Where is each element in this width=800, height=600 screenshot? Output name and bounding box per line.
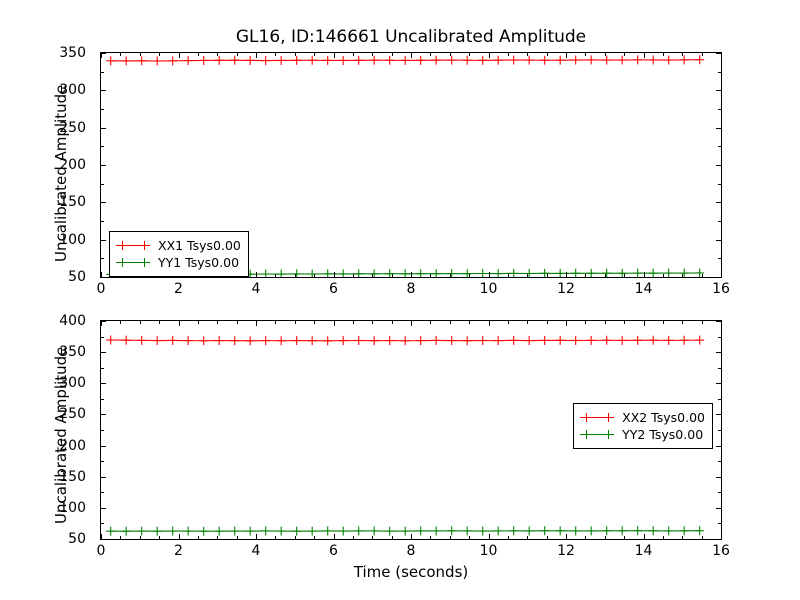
x-minor-tick-mark [702, 536, 703, 539]
legend-swatch-yy-icon [116, 257, 150, 268]
x-tick-mark [179, 53, 180, 58]
x-tick-label: 12 [557, 281, 575, 297]
x-tick-label: 0 [97, 543, 106, 559]
x-minor-tick-mark [682, 53, 683, 56]
y-tick-label: 300 [0, 383, 92, 399]
x-minor-tick-mark [314, 274, 315, 277]
y-tick-label-text: 300 [0, 82, 92, 98]
x-tick-mark [644, 534, 645, 539]
y-tick-mark [716, 539, 721, 540]
series-xx [106, 335, 704, 345]
x-tick-label: 0 [97, 281, 106, 297]
x-minor-tick-mark [547, 53, 548, 56]
legend-swatch-xx-icon [116, 240, 150, 251]
x-minor-tick-mark [508, 274, 509, 277]
x-minor-tick-mark [508, 53, 509, 56]
y-tick-label: 250 [0, 414, 92, 430]
y-minor-tick-mark [718, 146, 721, 147]
y-tick-label-text: 150 [0, 469, 92, 485]
x-minor-tick-mark [392, 321, 393, 324]
y-minor-tick-mark [718, 399, 721, 400]
y-minor-tick-mark [101, 258, 104, 259]
y-tick-label-text: 50 [0, 269, 92, 285]
x-tick-mark [334, 321, 335, 326]
x-tick-label: 6 [329, 543, 338, 559]
y-tick-label-text: 100 [0, 232, 92, 248]
x-tick-label: 16 [712, 543, 730, 559]
x-tick-mark [411, 534, 412, 539]
plot-area-top[interactable]: XX1 Tsys0.00YY1 Tsys0.00 [100, 52, 722, 278]
x-minor-tick-mark [392, 536, 393, 539]
y-minor-tick-mark [718, 337, 721, 338]
y-minor-tick-mark [718, 258, 721, 259]
x-tick-mark [101, 272, 102, 277]
y-minor-tick-mark [101, 492, 104, 493]
x-tick-mark [644, 272, 645, 277]
x-minor-tick-mark [372, 274, 373, 277]
y-tick-label: 200 [0, 446, 92, 462]
x-minor-tick-mark [353, 321, 354, 324]
x-tick-mark [566, 321, 567, 326]
y-tick-label: 400 [0, 321, 92, 337]
x-tick-mark [489, 53, 490, 58]
x-tick-label: 14 [635, 281, 653, 297]
y-tick-label: 100 [0, 240, 92, 256]
x-minor-tick-mark [159, 53, 160, 56]
x-minor-tick-mark [605, 274, 606, 277]
y-minor-tick-mark [718, 461, 721, 462]
x-tick-mark [256, 321, 257, 326]
y-tick-mark [101, 240, 106, 241]
y-tick-mark [716, 414, 721, 415]
y-minor-tick-mark [718, 184, 721, 185]
x-minor-tick-mark [547, 274, 548, 277]
x-minor-tick-mark [217, 321, 218, 324]
y-tick-mark [101, 277, 106, 278]
x-minor-tick-mark [527, 274, 528, 277]
x-tick-mark [101, 53, 102, 58]
y-tick-label: 100 [0, 508, 92, 524]
y-tick-label: 150 [0, 202, 92, 218]
x-minor-tick-mark [702, 274, 703, 277]
y-tick-mark [101, 508, 106, 509]
y-minor-tick-mark [101, 221, 104, 222]
y-tick-label-text: 50 [0, 531, 92, 547]
x-minor-tick-mark [275, 321, 276, 324]
x-minor-tick-mark [392, 274, 393, 277]
x-minor-tick-mark [120, 536, 121, 539]
x-tick-label: 10 [480, 543, 498, 559]
x-minor-tick-mark [508, 321, 509, 324]
x-minor-tick-mark [469, 536, 470, 539]
x-minor-tick-mark [275, 274, 276, 277]
x-axis-label: Time (seconds) [100, 563, 722, 581]
x-tick-label: 6 [329, 281, 338, 297]
legend-item[interactable]: YY1 Tsys0.00 [116, 254, 241, 271]
y-minor-tick-mark [718, 523, 721, 524]
x-tick-mark [334, 534, 335, 539]
legend-item[interactable]: XX1 Tsys0.00 [116, 237, 241, 254]
x-tick-mark [644, 321, 645, 326]
legend-label: XX2 Tsys0.00 [622, 409, 705, 426]
x-minor-tick-mark [314, 321, 315, 324]
x-minor-tick-mark [450, 321, 451, 324]
x-minor-tick-mark [430, 536, 431, 539]
x-minor-tick-mark [159, 536, 160, 539]
x-minor-tick-mark [624, 53, 625, 56]
x-minor-tick-mark [527, 53, 528, 56]
x-tick-label: 12 [557, 543, 575, 559]
x-tick-mark [566, 534, 567, 539]
series-yy [106, 526, 704, 535]
x-minor-tick-mark [295, 274, 296, 277]
x-minor-tick-mark [547, 321, 548, 324]
y-tick-mark [716, 128, 721, 129]
x-tick-label: 4 [252, 281, 261, 297]
x-tick-mark [256, 53, 257, 58]
x-tick-mark [411, 321, 412, 326]
y-tick-label-text: 350 [0, 45, 92, 61]
y-tick-mark [101, 539, 106, 540]
legend-label: XX1 Tsys0.00 [158, 237, 241, 254]
y-tick-mark [716, 508, 721, 509]
x-tick-mark [256, 272, 257, 277]
x-tick-label: 16 [712, 281, 730, 297]
x-tick-mark [721, 53, 722, 58]
x-minor-tick-mark [508, 536, 509, 539]
y-tick-mark [101, 383, 106, 384]
y-tick-mark [716, 90, 721, 91]
x-minor-tick-mark [392, 53, 393, 56]
x-minor-tick-mark [295, 536, 296, 539]
y-minor-tick-mark [101, 72, 104, 73]
x-minor-tick-mark [682, 321, 683, 324]
y-minor-tick-mark [101, 523, 104, 524]
y-tick-mark [716, 446, 721, 447]
x-tick-label: 2 [174, 543, 183, 559]
x-tick-mark [256, 534, 257, 539]
y-tick-mark [716, 240, 721, 241]
y-minor-tick-mark [718, 430, 721, 431]
x-minor-tick-mark [140, 536, 141, 539]
x-minor-tick-mark [469, 321, 470, 324]
x-minor-tick-mark [217, 53, 218, 56]
y-tick-mark [101, 477, 106, 478]
x-tick-label: 2 [174, 281, 183, 297]
y-minor-tick-mark [101, 399, 104, 400]
x-minor-tick-mark [450, 274, 451, 277]
x-tick-mark [721, 534, 722, 539]
y-minor-tick-mark [101, 430, 104, 431]
y-tick-label: 350 [0, 352, 92, 368]
x-tick-label: 4 [252, 543, 261, 559]
x-tick-mark [101, 321, 102, 326]
y-minor-tick-mark [718, 72, 721, 73]
x-tick-mark [566, 272, 567, 277]
x-minor-tick-mark [682, 536, 683, 539]
x-tick-mark [489, 534, 490, 539]
y-tick-label: 350 [0, 53, 92, 69]
x-tick-mark [644, 53, 645, 58]
x-minor-tick-mark [217, 536, 218, 539]
y-tick-label-text: 200 [0, 157, 92, 173]
y-minor-tick-mark [101, 461, 104, 462]
x-minor-tick-mark [295, 321, 296, 324]
figure-canvas: GL16, ID:146661 Uncalibrated Amplitude U… [0, 0, 800, 600]
y-tick-label: 300 [0, 90, 92, 106]
x-minor-tick-mark [198, 536, 199, 539]
x-minor-tick-mark [624, 274, 625, 277]
x-tick-mark [411, 53, 412, 58]
y-minor-tick-mark [101, 146, 104, 147]
x-minor-tick-mark [430, 321, 431, 324]
x-tick-mark [721, 272, 722, 277]
y-tick-label: 150 [0, 477, 92, 493]
y-tick-label-text: 150 [0, 194, 92, 210]
y-tick-mark [716, 383, 721, 384]
legend-swatch-yy-icon [580, 429, 614, 440]
y-tick-mark [716, 477, 721, 478]
y-tick-label-text: 200 [0, 438, 92, 454]
y-tick-mark [716, 202, 721, 203]
y-tick-label: 250 [0, 128, 92, 144]
x-minor-tick-mark [624, 321, 625, 324]
x-tick-label: 10 [480, 281, 498, 297]
x-tick-label: 14 [635, 543, 653, 559]
x-minor-tick-mark [469, 53, 470, 56]
x-minor-tick-mark [585, 274, 586, 277]
x-minor-tick-mark [585, 321, 586, 324]
x-minor-tick-mark [663, 536, 664, 539]
y-tick-mark [716, 277, 721, 278]
x-tick-mark [179, 534, 180, 539]
x-tick-mark [721, 321, 722, 326]
x-tick-mark [489, 272, 490, 277]
x-tick-mark [489, 321, 490, 326]
x-tick-label: 8 [407, 281, 416, 297]
y-tick-mark [716, 352, 721, 353]
x-tick-mark [334, 272, 335, 277]
x-minor-tick-mark [314, 53, 315, 56]
y-tick-mark [101, 414, 106, 415]
y-tick-label-text: 400 [0, 313, 92, 329]
y-tick-label: 50 [0, 277, 92, 293]
x-minor-tick-mark [353, 53, 354, 56]
x-minor-tick-mark [605, 321, 606, 324]
y-minor-tick-mark [718, 492, 721, 493]
y-tick-mark [101, 128, 106, 129]
legend-label: YY1 Tsys0.00 [158, 254, 239, 271]
y-minor-tick-mark [718, 221, 721, 222]
x-minor-tick-mark [295, 53, 296, 56]
x-minor-tick-mark [663, 321, 664, 324]
y-minor-tick-mark [718, 109, 721, 110]
y-minor-tick-mark [101, 337, 104, 338]
x-minor-tick-mark [547, 536, 548, 539]
x-minor-tick-mark [372, 53, 373, 56]
x-minor-tick-mark [450, 53, 451, 56]
x-tick-mark [179, 321, 180, 326]
y-tick-mark [101, 90, 106, 91]
legend-swatch-xx-icon [580, 412, 614, 423]
y-minor-tick-mark [718, 368, 721, 369]
x-minor-tick-mark [585, 53, 586, 56]
x-minor-tick-mark [140, 321, 141, 324]
x-minor-tick-mark [450, 536, 451, 539]
x-minor-tick-mark [663, 274, 664, 277]
x-minor-tick-mark [198, 321, 199, 324]
x-minor-tick-mark [140, 53, 141, 56]
x-minor-tick-mark [275, 53, 276, 56]
x-minor-tick-mark [605, 536, 606, 539]
y-tick-mark [101, 202, 106, 203]
x-minor-tick-mark [314, 536, 315, 539]
y-tick-mark [101, 352, 106, 353]
y-minor-tick-mark [101, 368, 104, 369]
x-minor-tick-mark [585, 536, 586, 539]
legend-bottom[interactable]: XX2 Tsys0.00YY2 Tsys0.00 [573, 403, 713, 449]
x-minor-tick-mark [663, 53, 664, 56]
x-tick-mark [411, 272, 412, 277]
x-minor-tick-mark [430, 274, 431, 277]
x-minor-tick-mark [469, 274, 470, 277]
legend-label: YY2 Tsys0.00 [622, 426, 703, 443]
x-minor-tick-mark [198, 53, 199, 56]
x-minor-tick-mark [372, 536, 373, 539]
x-minor-tick-mark [682, 274, 683, 277]
x-minor-tick-mark [372, 321, 373, 324]
y-tick-mark [101, 165, 106, 166]
x-minor-tick-mark [237, 321, 238, 324]
y-tick-label-text: 300 [0, 375, 92, 391]
y-tick-mark [716, 165, 721, 166]
x-minor-tick-mark [237, 536, 238, 539]
x-minor-tick-mark [624, 536, 625, 539]
x-minor-tick-mark [702, 321, 703, 324]
x-minor-tick-mark [527, 321, 528, 324]
y-tick-label: 200 [0, 165, 92, 181]
plot-area-bottom[interactable]: XX2 Tsys0.00YY2 Tsys0.00 [100, 320, 722, 540]
x-minor-tick-mark [237, 53, 238, 56]
figure-title: GL16, ID:146661 Uncalibrated Amplitude [100, 27, 722, 47]
y-tick-mark [101, 446, 106, 447]
y-tick-label-text: 100 [0, 500, 92, 516]
x-minor-tick-mark [527, 536, 528, 539]
x-minor-tick-mark [120, 53, 121, 56]
y-tick-label-text: 250 [0, 120, 92, 136]
y-minor-tick-mark [101, 109, 104, 110]
x-minor-tick-mark [430, 53, 431, 56]
legend-item[interactable]: YY2 Tsys0.00 [580, 426, 705, 443]
x-minor-tick-mark [702, 53, 703, 56]
x-tick-mark [101, 534, 102, 539]
x-minor-tick-mark [605, 53, 606, 56]
x-minor-tick-mark [159, 321, 160, 324]
x-minor-tick-mark [353, 274, 354, 277]
x-minor-tick-mark [120, 321, 121, 324]
y-axis-label-bottom: Uncalibrated Amplitude [52, 347, 70, 524]
x-minor-tick-mark [353, 536, 354, 539]
y-minor-tick-mark [101, 184, 104, 185]
x-tick-label: 8 [407, 543, 416, 559]
x-tick-mark [566, 53, 567, 58]
legend-top[interactable]: XX1 Tsys0.00YY1 Tsys0.00 [109, 231, 249, 277]
series-xx [106, 55, 704, 65]
x-minor-tick-mark [275, 536, 276, 539]
y-tick-label-text: 350 [0, 344, 92, 360]
y-tick-label: 50 [0, 539, 92, 555]
x-tick-mark [334, 53, 335, 58]
y-tick-label-text: 250 [0, 406, 92, 422]
legend-item[interactable]: XX2 Tsys0.00 [580, 409, 705, 426]
